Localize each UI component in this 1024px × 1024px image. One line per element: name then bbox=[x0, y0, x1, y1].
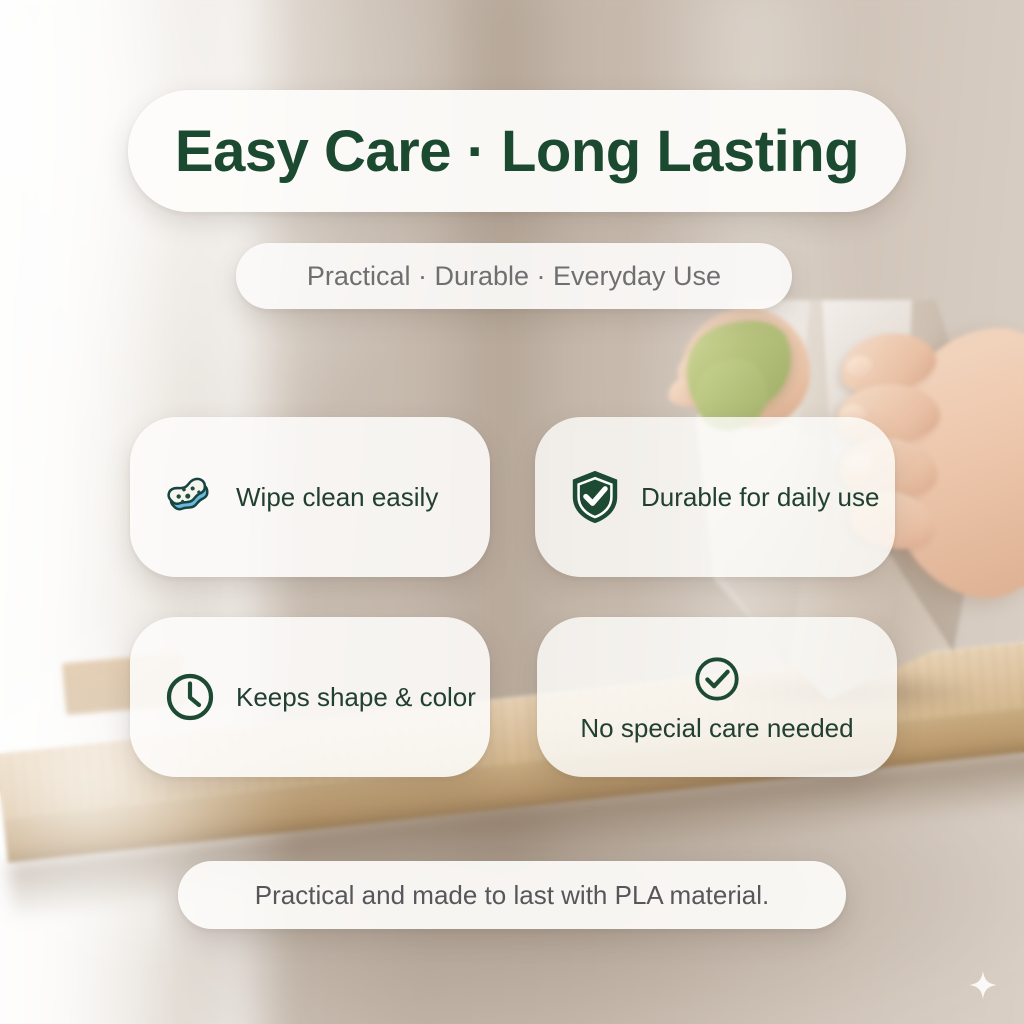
feature-card-content: No special care needed bbox=[537, 617, 897, 777]
page-subtitle: Practical · Durable · Everyday Use bbox=[307, 261, 721, 292]
feature-card-durable[interactable]: Durable for daily use bbox=[535, 417, 895, 577]
feature-label: Durable for daily use bbox=[641, 482, 879, 513]
feature-card-content: Keeps shape & color bbox=[130, 617, 490, 777]
feature-card-content: Durable for daily use bbox=[535, 417, 895, 577]
title-pill: Easy Care · Long Lasting bbox=[128, 90, 906, 212]
subtitle-pill: Practical · Durable · Everyday Use bbox=[236, 243, 792, 309]
shield-check-icon bbox=[567, 469, 623, 525]
promo-graphic: Easy Care · Long Lasting Practical · Dur… bbox=[0, 0, 1024, 1024]
feature-card-content: Wipe clean easily bbox=[130, 417, 490, 577]
sponge-icon bbox=[162, 469, 218, 525]
feature-card-wipe-clean[interactable]: Wipe clean easily bbox=[130, 417, 490, 577]
check-circle-icon bbox=[689, 651, 745, 707]
footer-text: Practical and made to last with PLA mate… bbox=[255, 880, 769, 911]
sparkle-icon bbox=[968, 970, 998, 1000]
feature-label: Keeps shape & color bbox=[236, 682, 476, 713]
footer-pill: Practical and made to last with PLA mate… bbox=[178, 861, 846, 929]
feature-card-no-special-care[interactable]: No special care needed bbox=[537, 617, 897, 777]
feature-card-keeps-shape[interactable]: Keeps shape & color bbox=[130, 617, 490, 777]
clock-icon bbox=[162, 669, 218, 725]
page-title: Easy Care · Long Lasting bbox=[175, 118, 859, 185]
feature-label: Wipe clean easily bbox=[236, 482, 438, 513]
overlay-content: Easy Care · Long Lasting Practical · Dur… bbox=[0, 0, 1024, 1024]
feature-label: No special care needed bbox=[580, 713, 853, 744]
